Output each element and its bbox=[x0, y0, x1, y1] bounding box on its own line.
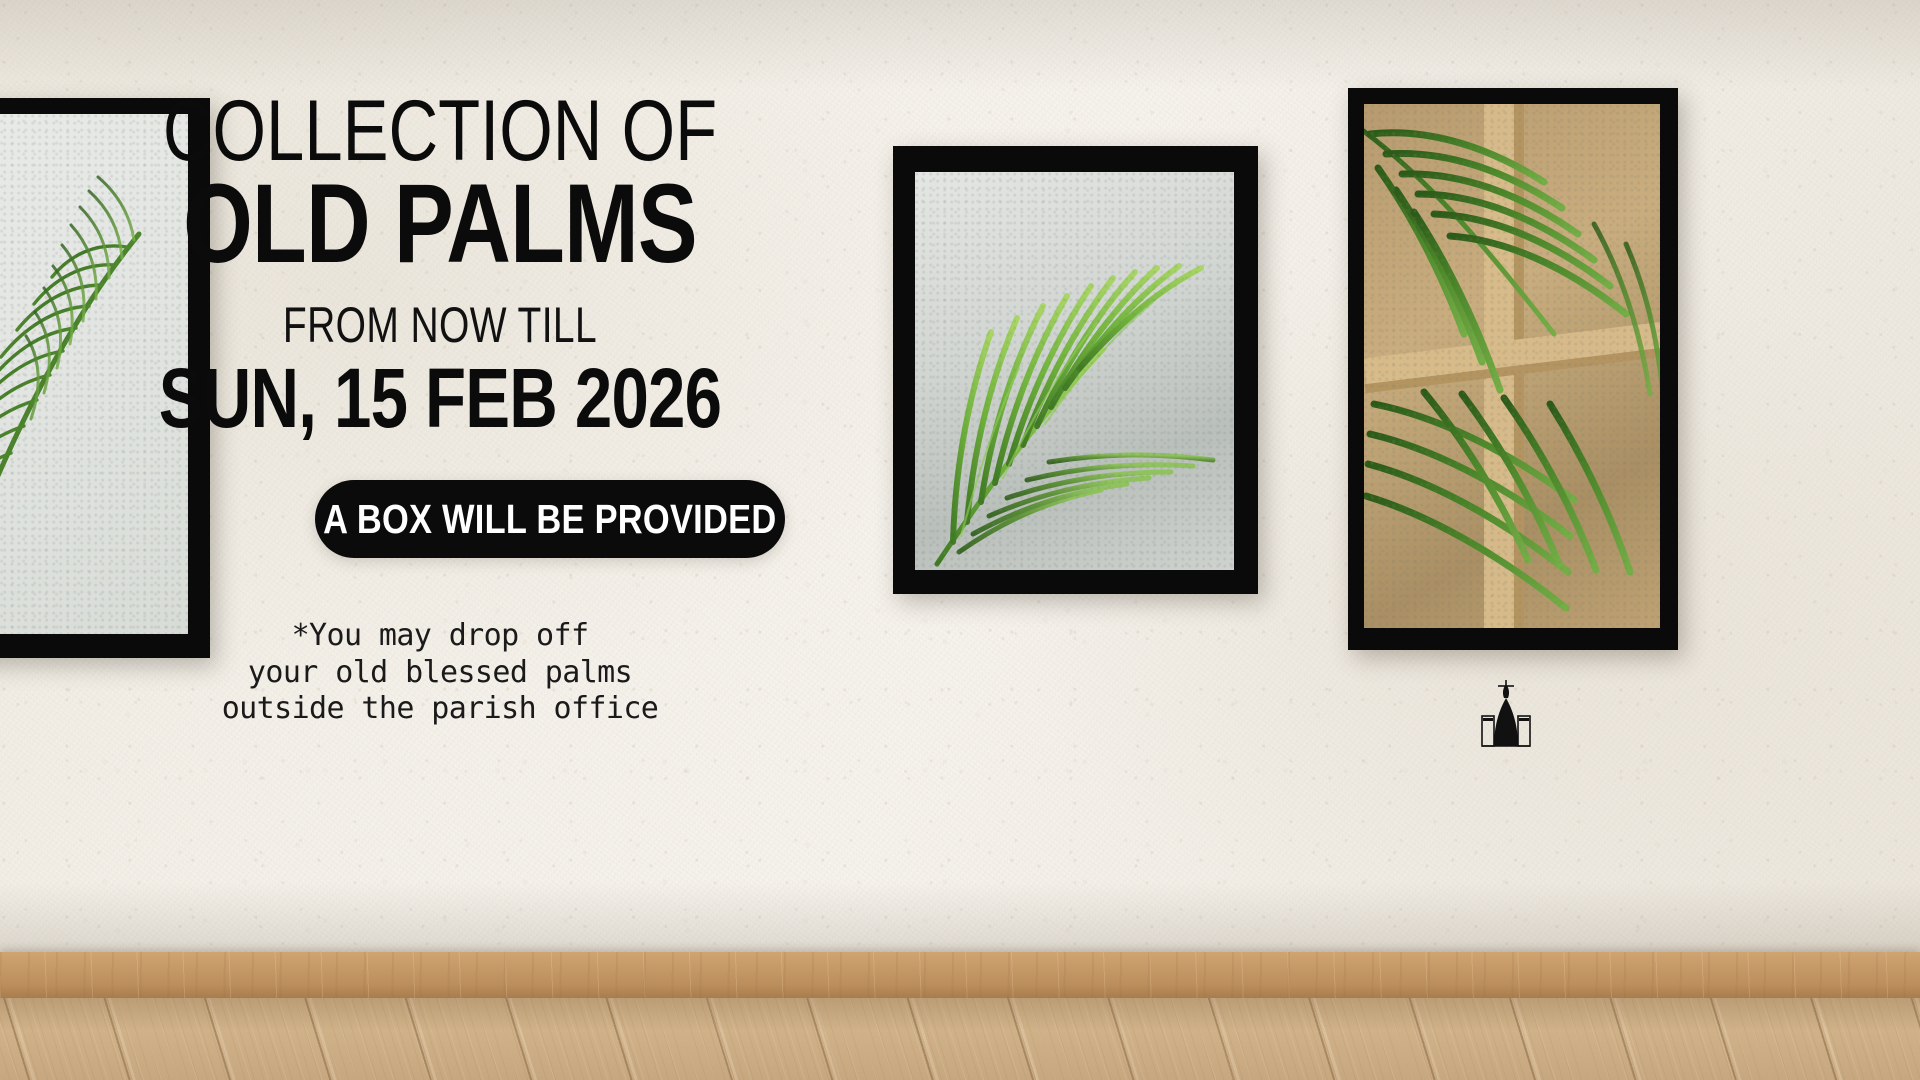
dropoff-note-line-2: your old blessed palms bbox=[0, 655, 880, 692]
artwork-right-canvas bbox=[1364, 104, 1660, 628]
baseboard-trim bbox=[0, 952, 1920, 998]
framed-artwork-right bbox=[1348, 88, 1678, 650]
palm-frond-right-icon bbox=[1364, 104, 1660, 628]
gallery-wall: COLLECTION OF OLD PALMS FROM NOW TILL SU… bbox=[0, 0, 1920, 952]
dropoff-note: *You may drop off your old blessed palms… bbox=[0, 618, 880, 728]
wall-bottom-shadow bbox=[0, 882, 1920, 952]
framed-artwork-center bbox=[893, 146, 1258, 594]
schedule-prefix: FROM NOW TILL bbox=[97, 300, 783, 350]
box-provided-badge: A BOX WILL BE PROVIDED bbox=[315, 480, 785, 558]
wall-top-shadow bbox=[0, 0, 1920, 90]
wooden-floor bbox=[0, 998, 1920, 1080]
headline-line-2: OLD PALMS bbox=[88, 168, 792, 280]
palm-frond-center-icon bbox=[915, 172, 1234, 570]
artwork-center-canvas bbox=[915, 172, 1234, 570]
box-provided-badge-label: A BOX WILL BE PROVIDED bbox=[323, 496, 776, 543]
parish-logo-icon bbox=[1474, 672, 1538, 750]
floor-shading bbox=[0, 998, 1920, 1080]
schedule-date: SUN, 15 FEB 2026 bbox=[88, 356, 792, 440]
dropoff-note-line-1: *You may drop off bbox=[0, 618, 880, 655]
dropoff-note-line-3: outside the parish office bbox=[0, 691, 880, 728]
